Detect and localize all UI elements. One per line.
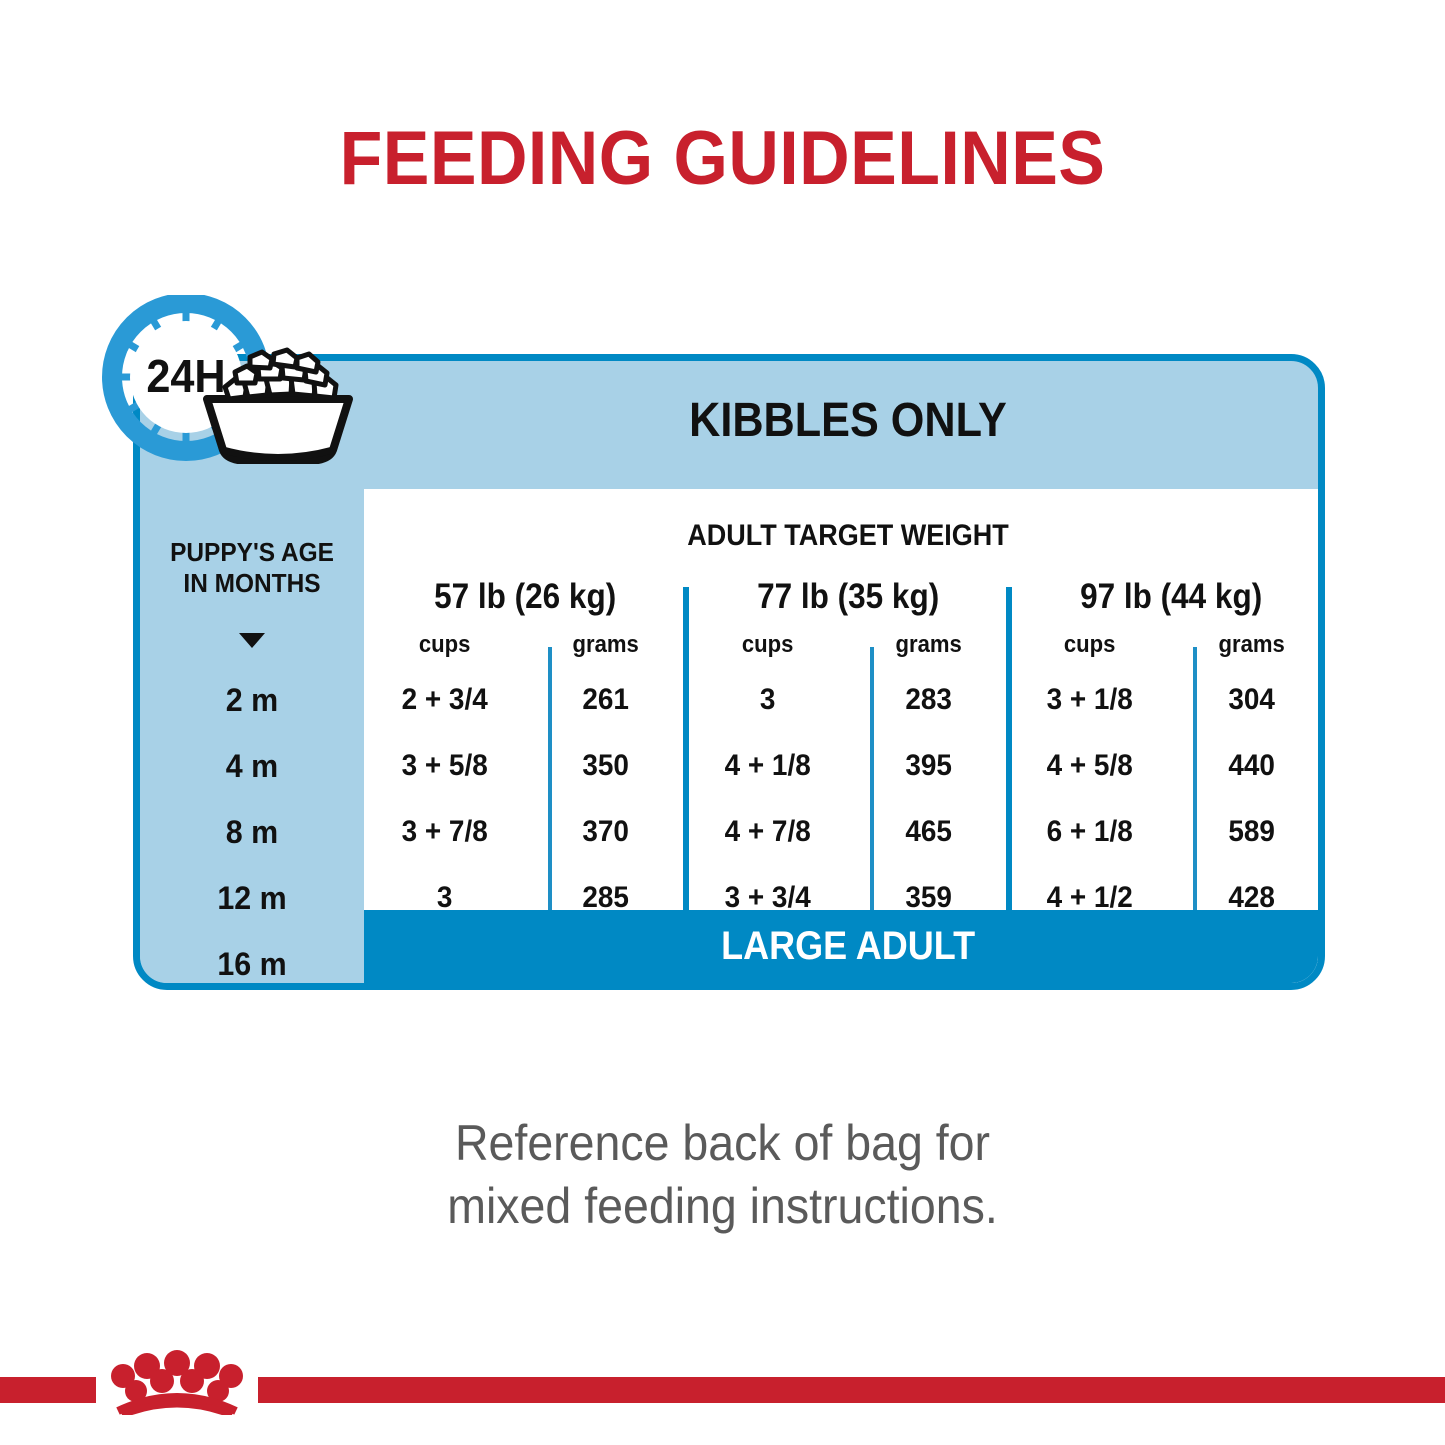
unit-header-cups: cups	[1016, 631, 1164, 659]
cell-group: 2 + 3/4 261	[364, 667, 687, 733]
unit-header-grams: grams	[532, 631, 680, 659]
cell-grams: 350	[531, 733, 681, 799]
cell-group: 3 + 7/8 370	[364, 799, 687, 865]
cell-cups: 3	[692, 667, 842, 733]
puppy-age-heading: PUPPY'S AGE IN MONTHS	[147, 537, 358, 598]
cell-cups: 2 + 3/4	[370, 667, 520, 733]
large-adult-label: LARGE ADULT	[721, 924, 975, 969]
clock-bowl-icon-group: 24H	[101, 295, 376, 480]
puppy-age-heading-line1: PUPPY'S AGE	[147, 537, 358, 568]
table-row: 2 + 3/4 261 3 283 3 + 1/8 304	[364, 667, 1325, 733]
cell-grams: 283	[854, 667, 1004, 733]
triangle-down-icon	[239, 633, 265, 648]
weight-group-label: 57 lb (26 kg)	[434, 577, 616, 617]
list-item: 16 m	[146, 931, 359, 990]
cell-cups: 4 + 5/8	[1015, 733, 1165, 799]
cell-group: 3 283	[687, 667, 1010, 733]
page-title: FEEDING GUIDELINES	[58, 121, 1387, 197]
footer-note-line1: Reference back of bag for	[51, 1112, 1395, 1175]
cell-cups: 6 + 1/8	[1015, 799, 1165, 865]
unit-headers: cups grams	[687, 631, 1010, 659]
footer-note: Reference back of bag for mixed feeding …	[51, 1112, 1395, 1238]
cell-cups: 3 + 1/8	[1015, 667, 1165, 733]
royal-canin-crown-logo	[96, 1349, 258, 1415]
weight-group-label: 77 lb (35 kg)	[757, 577, 939, 617]
cell-grams: 395	[854, 733, 1004, 799]
brand-bar-right	[258, 1377, 1445, 1403]
unit-headers: cups grams	[364, 631, 687, 659]
weight-group-headers: 57 lb (26 kg) cups grams 77 lb (35 kg) c…	[364, 573, 1325, 667]
weight-group: 97 lb (44 kg) cups grams	[1009, 573, 1325, 667]
brand-bar-left	[0, 1377, 96, 1403]
unit-divider	[870, 647, 874, 929]
cell-grams: 304	[1176, 667, 1325, 733]
list-item: 8 m	[146, 799, 359, 865]
cell-group: 4 + 5/8 440	[1009, 733, 1325, 799]
unit-header-grams: grams	[1177, 631, 1325, 659]
list-item: 4 m	[146, 733, 359, 799]
cell-group: 4 + 7/8 465	[687, 799, 1010, 865]
table-row: 3 + 5/8 350 4 + 1/8 395 4 + 5/8 440	[364, 733, 1325, 799]
puppy-age-list: 2 m 4 m 8 m 12 m 16 m	[140, 667, 364, 990]
cell-group: 3 + 5/8 350	[364, 733, 687, 799]
cell-group: 3 + 1/8 304	[1009, 667, 1325, 733]
clock-bowl-icon: 24H	[101, 295, 376, 480]
unit-headers: cups grams	[1009, 631, 1325, 659]
cell-grams: 465	[854, 799, 1004, 865]
unit-header-cups: cups	[693, 631, 841, 659]
adult-target-weight-header: ADULT TARGET WEIGHT	[412, 519, 1283, 553]
footer-note-line2: mixed feeding instructions.	[51, 1175, 1395, 1238]
unit-divider	[548, 647, 552, 929]
cell-group: 6 + 1/8 589	[1009, 799, 1325, 865]
feeding-data-rows: 2 + 3/4 261 3 283 3 + 1/8 304 3 + 5/8 35…	[364, 667, 1325, 931]
weight-group-label: 97 lb (44 kg)	[1080, 577, 1262, 617]
table-row: 3 + 7/8 370 4 + 7/8 465 6 + 1/8 589	[364, 799, 1325, 865]
list-item: 2 m	[146, 667, 359, 733]
unit-header-grams: grams	[854, 631, 1002, 659]
list-item: 12 m	[146, 865, 359, 931]
large-adult-bar: LARGE ADULT	[364, 910, 1325, 983]
cell-cups: 3 + 7/8	[370, 799, 520, 865]
cell-grams: 370	[531, 799, 681, 865]
cell-cups: 4 + 7/8	[692, 799, 842, 865]
weight-group: 77 lb (35 kg) cups grams	[687, 573, 1010, 667]
card-header-kibbles-only: KIBBLES ONLY	[412, 393, 1283, 448]
cell-cups: 3 + 5/8	[370, 733, 520, 799]
puppy-age-heading-line2: IN MONTHS	[147, 568, 358, 599]
brand-bar	[0, 1377, 1445, 1403]
cell-cups: 4 + 1/8	[692, 733, 842, 799]
cell-grams: 440	[1176, 733, 1325, 799]
unit-header-cups: cups	[370, 631, 518, 659]
unit-divider	[1193, 647, 1197, 929]
weight-group: 57 lb (26 kg) cups grams	[364, 573, 687, 667]
column-divider	[683, 587, 689, 929]
cell-grams: 589	[1176, 799, 1325, 865]
column-divider	[1006, 587, 1012, 929]
cell-group: 4 + 1/8 395	[687, 733, 1010, 799]
clock-label-24h: 24H	[146, 352, 225, 402]
cell-grams: 261	[531, 667, 681, 733]
